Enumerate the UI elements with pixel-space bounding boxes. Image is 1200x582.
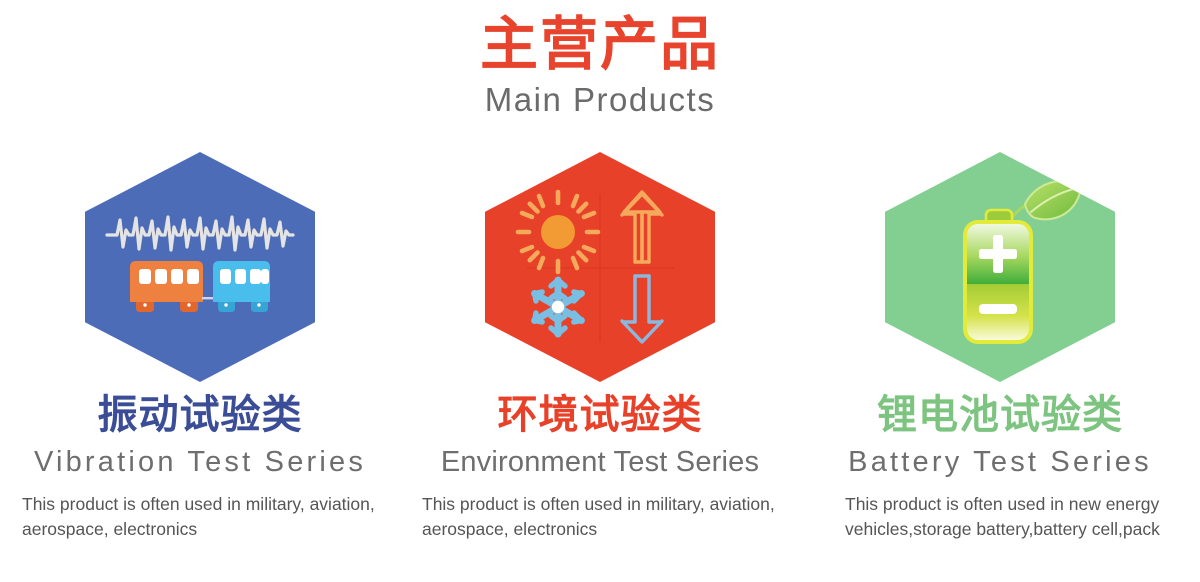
arrow-down-icon (622, 276, 662, 342)
vibration-icon-wrap (85, 152, 315, 382)
product-card-list: 振动试验类 Vibration Test Series This product… (0, 152, 1200, 582)
environment-label-en: Environment Test Series (400, 445, 800, 480)
hexagon-badge-green (885, 152, 1115, 382)
battery-icon (965, 222, 1031, 342)
minus-icon (979, 304, 1017, 314)
main-products-section: 主营产品 Main Products (0, 0, 1200, 582)
snowflake-center (552, 301, 564, 313)
hexagon-badge-blue (85, 152, 315, 382)
leaf-icon (1025, 181, 1081, 219)
hexagon-badge-red (485, 152, 715, 382)
vibration-description: This product is often used in military, … (0, 492, 400, 543)
product-card-vibration[interactable]: 振动试验类 Vibration Test Series This product… (0, 152, 400, 582)
vibration-label-en: Vibration Test Series (0, 445, 400, 480)
battery-icon-wrap (885, 152, 1115, 382)
environment-icon-wrap (485, 152, 715, 382)
page-title-cn: 主营产品 (0, 0, 1200, 75)
train-car-orange-icon (130, 261, 203, 312)
battery-label-en: Battery Test Series (800, 445, 1200, 480)
waveform-icon (107, 217, 293, 250)
quadrant-divider (527, 194, 675, 342)
vibration-label-cn: 振动试验类 (0, 392, 400, 439)
environment-label-cn: 环境试验类 (400, 392, 800, 439)
sun-icon (518, 192, 598, 272)
page-title-en: Main Products (0, 81, 1200, 119)
arrow-up-icon (624, 192, 660, 262)
product-card-battery[interactable]: 锂电池试验类 Battery Test Series This product … (800, 152, 1200, 582)
battery-description: This product is often used in new energy… (800, 492, 1200, 543)
environment-description: This product is often used in military, … (400, 492, 800, 543)
battery-label-cn: 锂电池试验类 (800, 392, 1200, 439)
product-card-environment[interactable]: 环境试验类 Environment Test Series This produ… (400, 152, 800, 582)
section-header: 主营产品 Main Products (0, 0, 1200, 119)
train-car-blue-icon (213, 261, 270, 312)
